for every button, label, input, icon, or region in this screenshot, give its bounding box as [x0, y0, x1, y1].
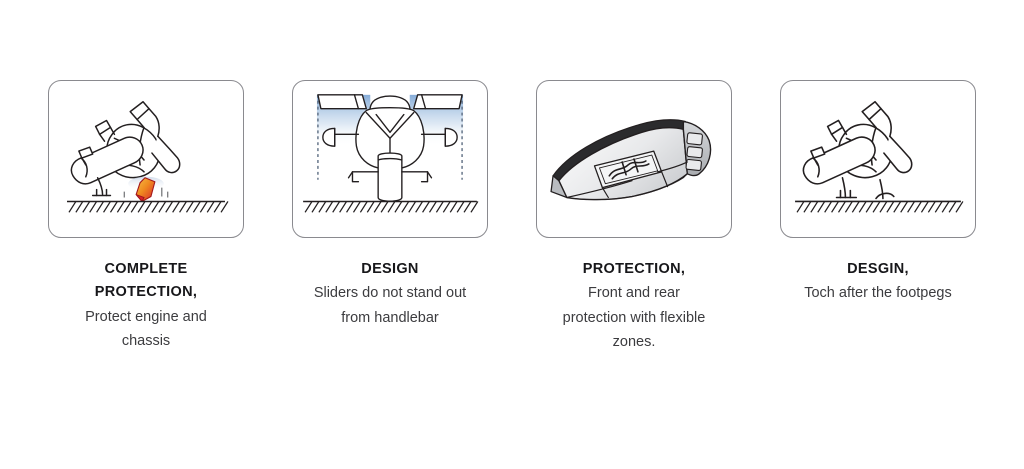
caption-protection: PROTECTION, Front and rear protection wi…: [519, 258, 749, 355]
caption-design: DESIGN Sliders do not stand out from han…: [275, 258, 505, 330]
feature-title-line-1: DESIGN: [275, 258, 505, 281]
feature-card-design: DESIGN Sliders do not stand out from han…: [268, 80, 512, 330]
ground-hatching: [795, 201, 963, 212]
motorcycle-footpeg-contact-side-view-icon: [781, 81, 975, 237]
motorcycle-front-view-handlebar-width-icon: [293, 81, 487, 237]
ground-hatching: [303, 201, 478, 212]
feature-body-line-1: Toch after the footpegs: [763, 282, 993, 305]
illustration-frame-protection: [536, 80, 732, 238]
feature-card-complete-protection: COMPLETE PROTECTION, Protect engine and …: [24, 80, 268, 354]
features-grid: COMPLETE PROTECTION, Protect engine and …: [0, 80, 1024, 355]
caption-complete-protection: COMPLETE PROTECTION, Protect engine and …: [31, 258, 261, 354]
feature-title-line-1: COMPLETE: [31, 258, 261, 281]
feature-body-line-2: protection with flexible: [519, 307, 749, 330]
feature-body-line-3: zones.: [519, 331, 749, 354]
feature-card-protection: PROTECTION, Front and rear protection wi…: [512, 80, 756, 355]
feature-card-desgin: DESGIN, Toch after the footpegs: [756, 80, 1000, 306]
feature-title-line-1: DESGIN,: [763, 258, 993, 281]
motorcycle-crash-slider-side-view-icon: [49, 81, 243, 237]
caption-desgin: DESGIN, Toch after the footpegs: [763, 258, 993, 306]
feature-title-line-2: PROTECTION,: [31, 281, 261, 304]
illustration-frame-complete-protection: [48, 80, 244, 238]
feature-body-line-1: Protect engine and: [31, 306, 261, 329]
illustration-frame-desgin: [780, 80, 976, 238]
feature-body-line-2: chassis: [31, 330, 261, 353]
feature-body-line-2: from handlebar: [275, 307, 505, 330]
feature-body-line-1: Sliders do not stand out: [275, 282, 505, 305]
feature-title-line-1: PROTECTION,: [519, 258, 749, 281]
slider-protector-part-3d-view-icon: [537, 81, 731, 237]
feature-body-line-1: Front and rear: [519, 282, 749, 305]
illustration-frame-design: [292, 80, 488, 238]
ground-hatching: [67, 201, 228, 212]
